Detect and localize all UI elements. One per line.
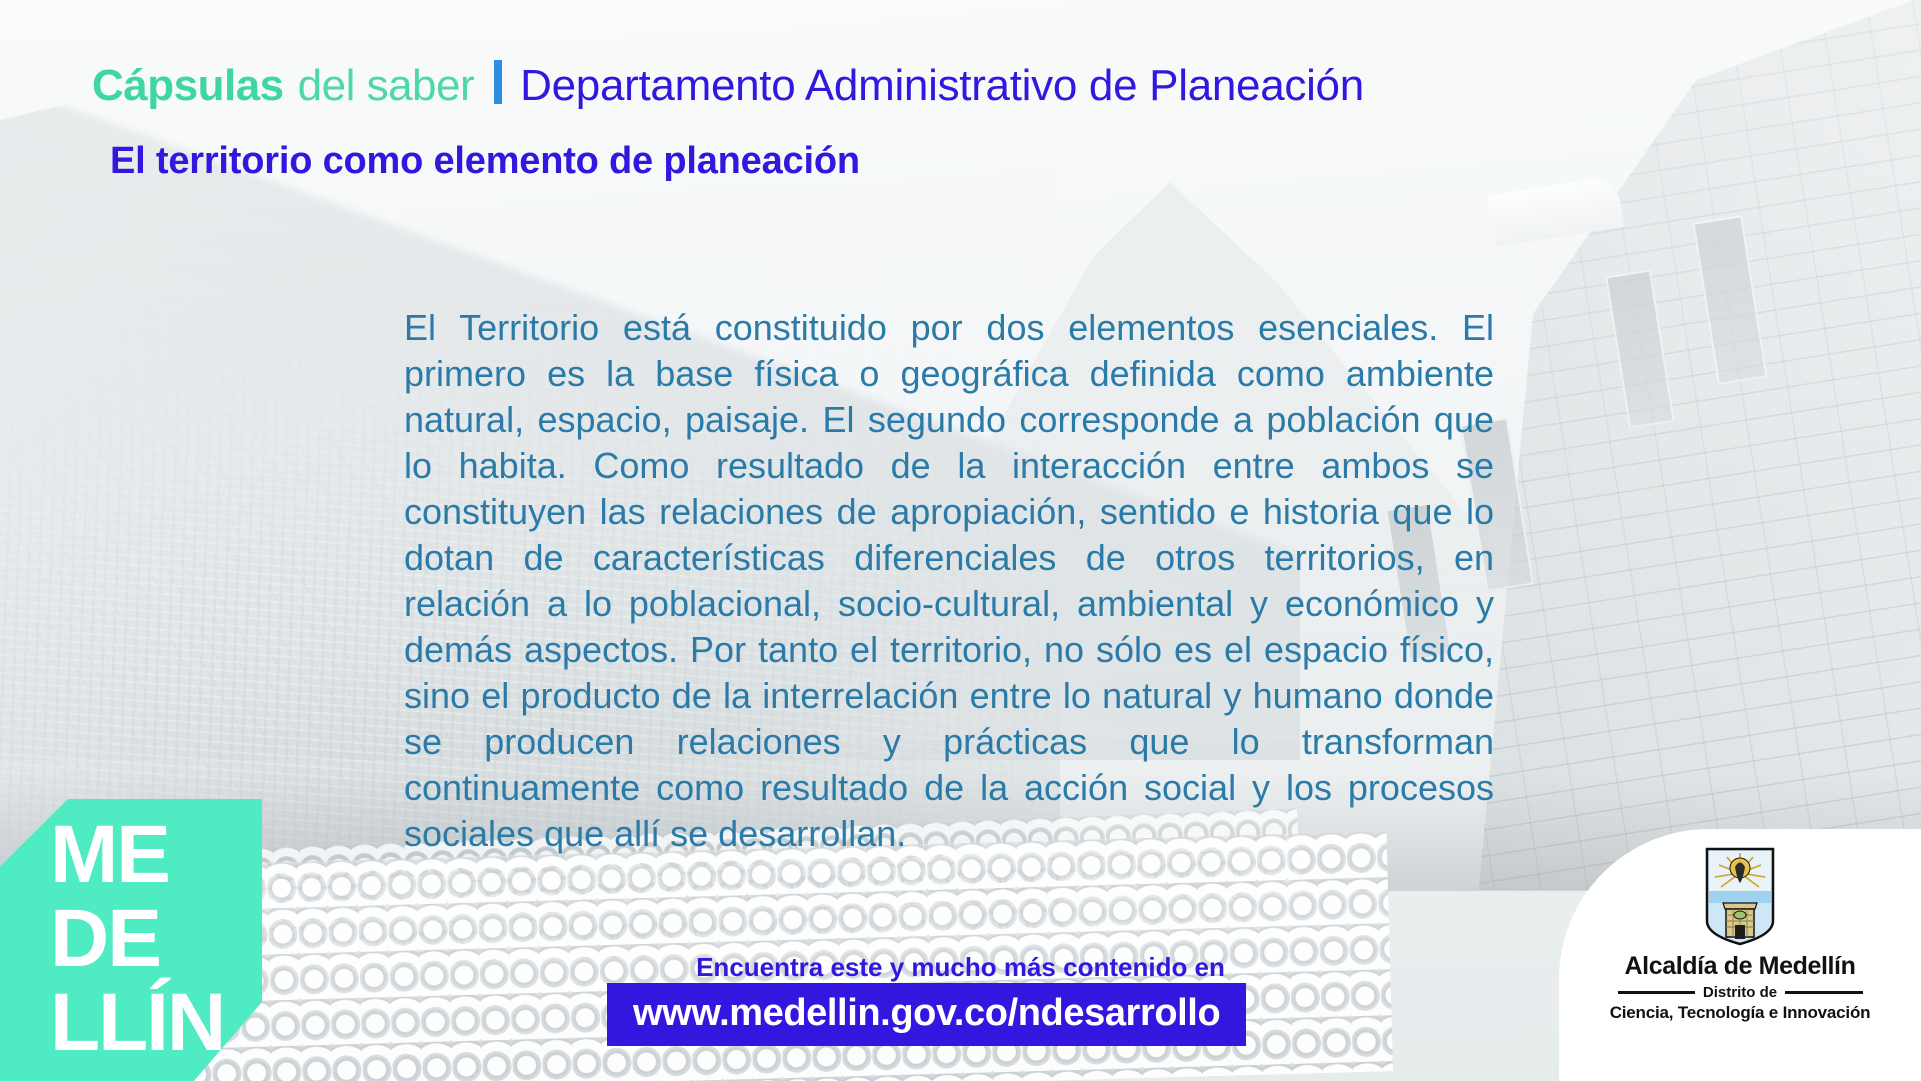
rule-left: [1618, 991, 1695, 994]
medellin-logo-line-3: LLÍN: [50, 981, 224, 1065]
page-subtitle: El territorio como elemento de planeació…: [110, 140, 860, 183]
medellin-logo-line-1: ME: [50, 813, 224, 897]
alcaldia-distrito-row: Distrito de: [1618, 984, 1863, 1001]
rule-right: [1785, 991, 1862, 994]
slide-canvas: Cápsulas del saber Departamento Administ…: [0, 0, 1921, 1081]
brand-name-light: del saber: [298, 61, 475, 111]
medellin-city-logo: ME DE LLÍN: [0, 799, 262, 1081]
alcaldia-distrito-label: Distrito de: [1703, 984, 1777, 1001]
brand-name-bold: Cápsulas: [92, 61, 284, 111]
body-copy: El Territorio está constituido por dos e…: [404, 305, 1494, 857]
body-paragraph: El Territorio está constituido por dos e…: [404, 305, 1494, 857]
alcaldia-name: Alcaldía de Medellín: [1625, 952, 1856, 981]
coat-of-arms-icon: [1705, 847, 1775, 946]
header-title: Cápsulas del saber Departamento Administ…: [92, 56, 1364, 111]
alcaldia-cti-label: Ciencia, Tecnología e Innovación: [1610, 1003, 1871, 1023]
alcaldia-logo-panel: Alcaldía de Medellín Distrito de Ciencia…: [1559, 829, 1921, 1081]
department-name: Departamento Administrativo de Planeació…: [520, 61, 1364, 111]
medellin-logo-text: ME DE LLÍN: [50, 813, 224, 1065]
vertical-bar-icon: [494, 60, 502, 104]
website-url-button[interactable]: www.medellin.gov.co/ndesarrollo: [607, 983, 1246, 1046]
